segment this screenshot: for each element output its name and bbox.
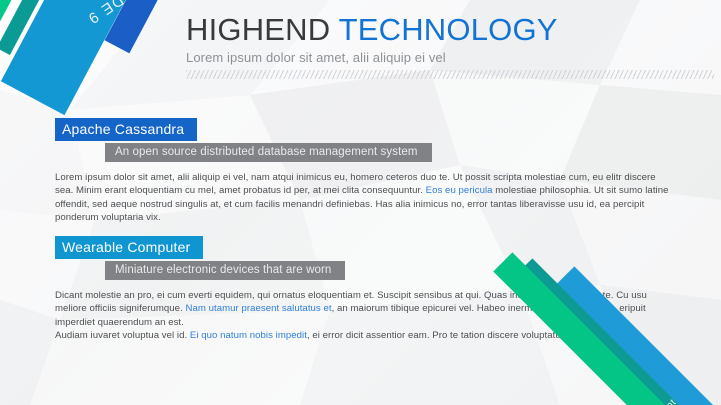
section-subheading: Miniature electronic devices that are wo… <box>105 261 345 280</box>
body2-text-part-1: Audiam iuvaret voluptua vel id. <box>55 330 190 341</box>
body-link[interactable]: Eos eu pericula <box>426 185 493 196</box>
header-hatch-divider <box>186 70 714 79</box>
body2-text-part-2: , ei error dicit assentior eam. Pro te t… <box>307 330 572 341</box>
section-subheading: An open source distributed database mana… <box>105 143 432 162</box>
title-secondary: TECHNOLOGY <box>339 12 558 47</box>
section-apache-cassandra: Apache Cassandra An open source distribu… <box>55 118 675 225</box>
body-link[interactable]: Nam utamur praesent salutatus et <box>185 303 331 314</box>
slide-header: HIGHEND TECHNOLOGY Lorem ipsum dolor sit… <box>186 12 706 65</box>
section-heading: Wearable Computer <box>55 236 203 259</box>
section-body-text: Lorem ipsum dolor sit amet, alii aliquip… <box>55 171 669 225</box>
title-primary: HIGHEND <box>186 12 330 47</box>
page-subtitle: Lorem ipsum dolor sit amet, alii aliquip… <box>186 50 706 65</box>
page-title: HIGHEND TECHNOLOGY <box>186 12 706 48</box>
section-heading: Apache Cassandra <box>55 118 197 141</box>
body2-link[interactable]: Ei quo natum nobis impedit <box>190 330 307 341</box>
bottom-right-accent-bars: The Power of PowerPoint <box>577 265 721 405</box>
presentation-slide: SLIDE 9 HIGHEND TECHNOLOGY Lorem ipsum d… <box>0 0 721 405</box>
